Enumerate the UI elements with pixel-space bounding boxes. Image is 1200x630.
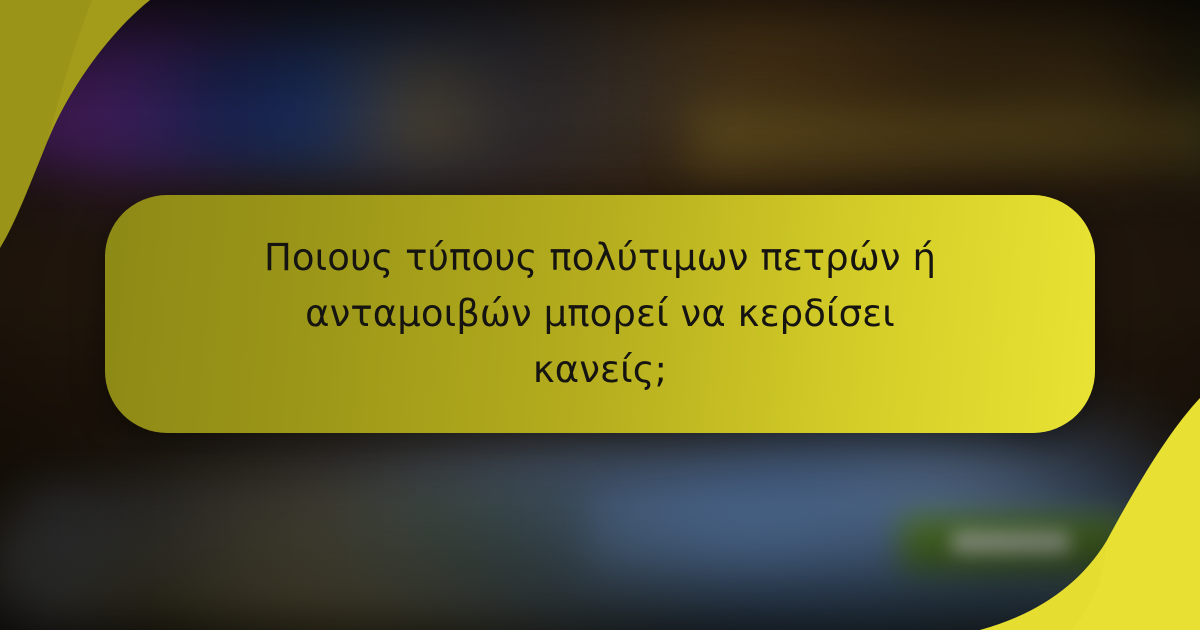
- question-text: Ποιους τύπους πολύτιμων πετρών ή ανταμοι…: [250, 230, 950, 399]
- promo-card-image: Ποιους τύπους πολύτιμων πετρών ή ανταμοι…: [0, 0, 1200, 630]
- question-card: Ποιους τύπους πολύτιμων πετρών ή ανταμοι…: [105, 195, 1095, 433]
